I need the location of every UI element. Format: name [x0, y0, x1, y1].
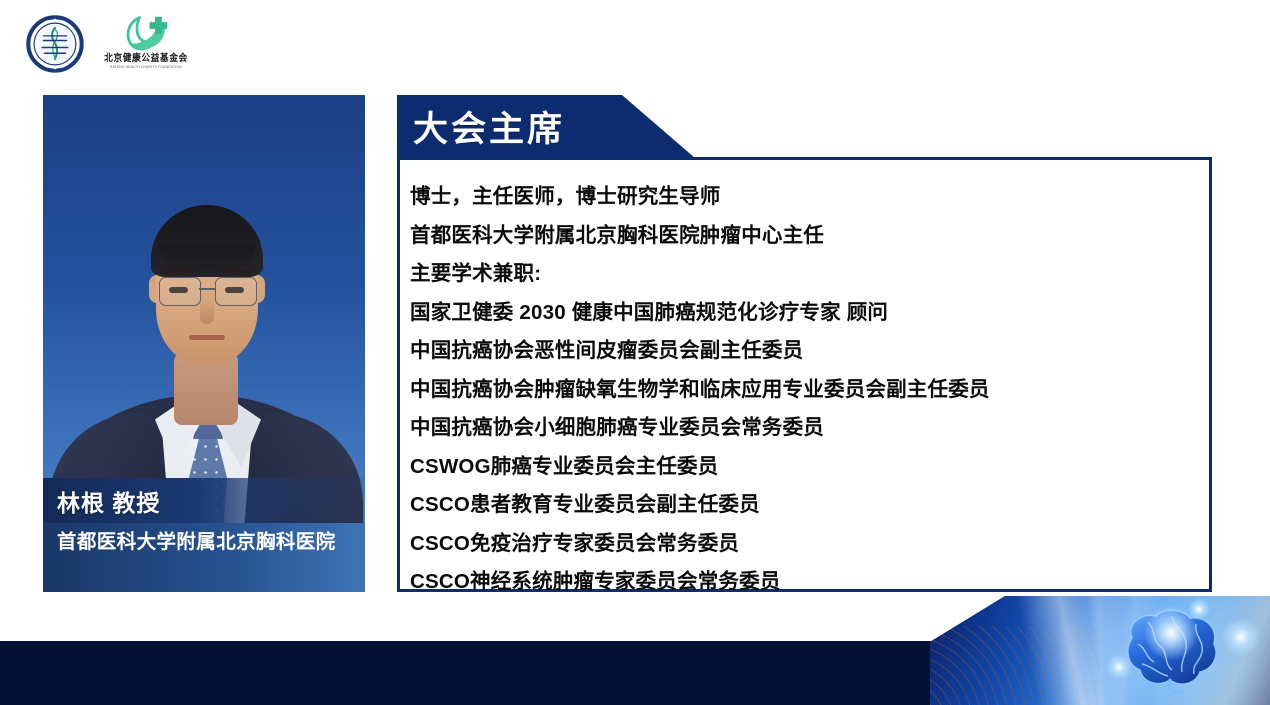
beijing-health-charity-foundation-logo: 北京健康公益基金会 BEIJING HEALTH CHARITY FOUNDAT…	[100, 16, 192, 76]
list-item: 主要学术兼职:	[410, 255, 1209, 294]
brain-decoration-image	[930, 596, 1270, 705]
portrait-glasses-left	[159, 277, 201, 306]
page-title: 大会主席	[413, 101, 565, 152]
portrait-mouth	[189, 335, 225, 340]
leaf-cross-icon	[122, 16, 168, 52]
portrait-nose	[200, 298, 214, 324]
chairman-organization: 首都医科大学附属北京胸科医院	[43, 523, 365, 555]
list-item: 首都医科大学附属北京胸科医院肿瘤中心主任	[410, 217, 1209, 256]
logo-bar: 北京健康公益基金会 BEIJING HEALTH CHARITY FOUNDAT…	[0, 0, 1270, 88]
chairman-organization-band: 首都医科大学附属北京胸科医院	[43, 523, 365, 592]
light-sparkle	[1222, 618, 1260, 656]
list-item: CSWOG肺癌专业委员会主任委员	[410, 448, 1209, 487]
list-item: CSCO神经系统肿瘤专家委员会常务委员	[410, 563, 1209, 602]
portrait-glasses-right	[215, 277, 257, 306]
portrait-glasses-bridge	[199, 288, 215, 290]
list-item: 国家卫健委 2030 健康中国肺癌规范化诊疗专家 顾问	[410, 294, 1209, 333]
chairman-bio-box: 博士，主任医师，博士研究生导师 首都医科大学附属北京胸科医院肿瘤中心主任 主要学…	[397, 157, 1212, 592]
light-sparkle	[1106, 654, 1132, 680]
foundation-name-en: BEIJING HEALTH CHARITY FOUNDATION	[105, 65, 188, 69]
chairman-name: 林根 教授	[57, 484, 160, 518]
list-item: 博士，主任医师，博士研究生导师	[410, 178, 1209, 217]
list-item: 中国抗癌协会小细胞肺癌专业委员会常务委员	[410, 409, 1209, 448]
capital-medical-university-emblem-icon	[26, 15, 84, 73]
list-item: CSCO患者教育专业委员会副主任委员	[410, 486, 1209, 525]
list-item: 中国抗癌协会肿瘤缺氧生物学和临床应用专业委员会副主任委员	[410, 371, 1209, 410]
foundation-name-cn: 北京健康公益基金会	[104, 53, 189, 64]
bio-list: 博士，主任医师，博士研究生导师 首都医科大学附属北京胸科医院肿瘤中心主任 主要学…	[410, 178, 1209, 602]
light-sparkle	[1188, 598, 1210, 620]
section-title-banner: 大会主席	[397, 95, 695, 158]
portrait-hair	[151, 205, 263, 277]
chairman-name-band: 林根 教授	[43, 478, 365, 523]
list-item: CSCO免疫治疗专家委员会常务委员	[410, 525, 1209, 564]
list-item: 中国抗癌协会恶性间皮瘤委员会副主任委员	[410, 332, 1209, 371]
